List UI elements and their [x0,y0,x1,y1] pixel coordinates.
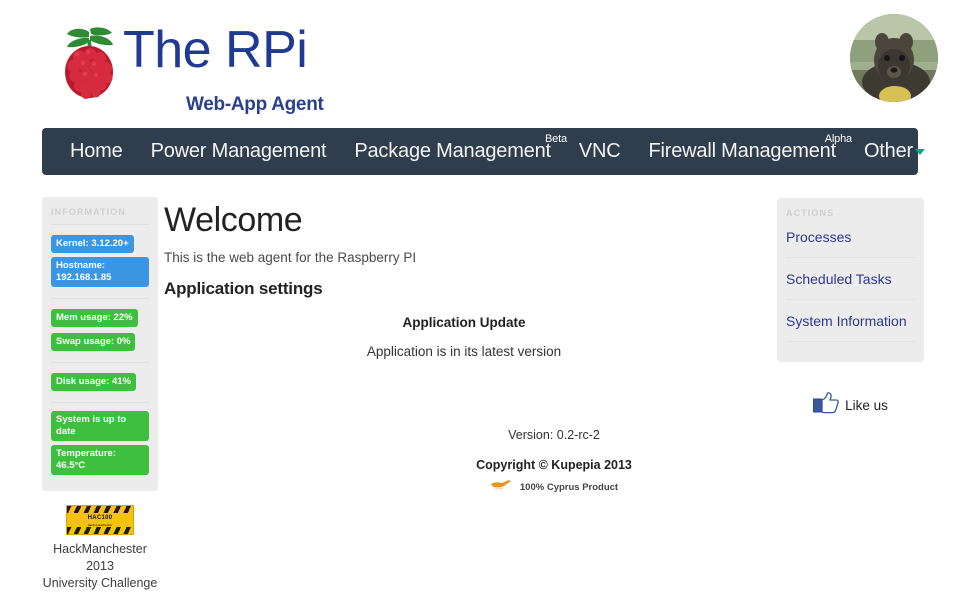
chevron-down-icon [915,149,925,155]
badge-kernel: Kernel: 3.12.20+ [51,235,134,253]
action-link-scheduled-tasks[interactable]: Scheduled Tasks [786,266,915,292]
app-page: The RPi Web-App Agent [0,0,960,592]
brand[interactable]: The RPi Web-App Agent [55,14,475,110]
divider [51,224,149,225]
page-footer: Version: 0.2-rc-2 Copyright © Kupepia 20… [164,428,944,497]
divider [786,341,915,342]
nav-label: Home [70,140,123,162]
badge-swap-wrap: Swap usage: 0% [51,331,149,355]
divider [51,298,149,299]
nav-label: Package Management [354,140,551,162]
hackmanchester-badge-icon: HAC100 hack manchester [66,505,134,535]
information-sidebar: INFORMATION Kernel: 3.12.20+ Hostname: 1… [42,197,158,592]
award-caption-line-1: HackManchester [42,541,158,558]
nav-label: VNC [579,140,621,162]
badge-disk-usage: Disk usage: 41% [51,373,136,391]
badge-disk-wrap: Disk usage: 41% [51,371,149,395]
nav-item-home[interactable]: Home [56,128,137,175]
badge-mem-usage: Mem usage: 22% [51,309,138,327]
badge-kernel-wrap: Kernel: 3.12.20+ [51,233,149,257]
badge-mem-wrap: Mem usage: 22% [51,307,149,331]
badge-swap-usage: Swap usage: 0% [51,333,135,351]
actions-sidebar: ACTIONS Processes Scheduled Tasks System… [777,198,924,362]
information-heading: INFORMATION [51,207,149,217]
action-link-processes[interactable]: Processes [786,224,915,250]
nav-label: Power Management [151,140,327,162]
brand-subtitle: Web-App Agent [186,94,324,116]
application-settings-heading: Application settings [164,279,764,299]
actions-panel: ACTIONS Processes Scheduled Tasks System… [777,198,924,362]
nav-item-power-management[interactable]: Power Management [137,128,341,175]
raspberry-icon [55,24,127,100]
badge-temperature-wrap: Temperature: 46.5°C [51,445,149,479]
divider [51,362,149,363]
actions-heading: ACTIONS [786,208,915,218]
application-update-status: Application is in its latest version [164,344,764,359]
award-block: HAC100 hack manchester HackManchester 20… [42,505,158,592]
nav-label: Other [864,140,913,162]
divider [786,257,915,258]
page-lead-text: This is the web agent for the Raspberry … [164,250,764,265]
nav-badge-beta: Beta [545,134,567,145]
badge-system-status: System is up to date [51,411,149,441]
badge-temperature: Temperature: 46.5°C [51,445,149,475]
footer-version: Version: 0.2-rc-2 [164,428,944,442]
award-caption-line-3: University Challenge [42,575,158,592]
information-panel: INFORMATION Kernel: 3.12.20+ Hostname: 1… [42,197,158,491]
facebook-like-button[interactable]: Like us [777,392,924,419]
brand-title: The RPi [123,22,307,78]
page-header: The RPi Web-App Agent [0,0,960,120]
award-badge-text: HAC100 hack manchester [67,515,133,528]
nav-badge-alpha: Alpha [825,134,852,145]
avatar[interactable] [850,14,938,102]
divider [786,299,915,300]
nav-item-other[interactable]: Other [850,128,939,175]
badge-hostname-wrap: Hostname: 192.168.1.85 [51,257,149,291]
hazard-stripes-bottom [67,527,133,534]
main-navigation: Home Power Management Package Management… [42,128,918,175]
hazard-stripes-top [67,506,133,513]
badge-system-status-wrap: System is up to date [51,411,149,445]
footer-cyprus-label: 100% Cyprus Product [520,482,618,493]
footer-copyright: Copyright © Kupepia 2013 [164,458,944,472]
page-title: Welcome [164,200,764,240]
nav-item-package-management[interactable]: Package ManagementBeta [340,128,565,175]
main-content: Welcome This is the web agent for the Ra… [164,200,764,359]
cyprus-map-icon [490,478,512,497]
footer-cyprus: 100% Cyprus Product [164,478,944,497]
award-caption-line-2: 2013 [42,558,158,575]
nav-item-vnc[interactable]: VNC [565,128,635,175]
nav-label: Firewall Management [649,140,836,162]
divider [51,402,149,403]
application-update-title: Application Update [164,315,764,330]
award-badge-title: HAC100 [88,515,113,521]
facebook-thumbs-up-icon [813,392,839,419]
action-link-system-information[interactable]: System Information [786,308,915,334]
award-badge-subtitle: hack manchester [67,522,133,528]
award-caption: HackManchester 2013 University Challenge… [42,541,158,592]
facebook-like-label: Like us [845,398,888,413]
badge-hostname: Hostname: 192.168.1.85 [51,257,149,287]
nav-item-firewall-management[interactable]: Firewall ManagementAlpha [635,128,850,175]
